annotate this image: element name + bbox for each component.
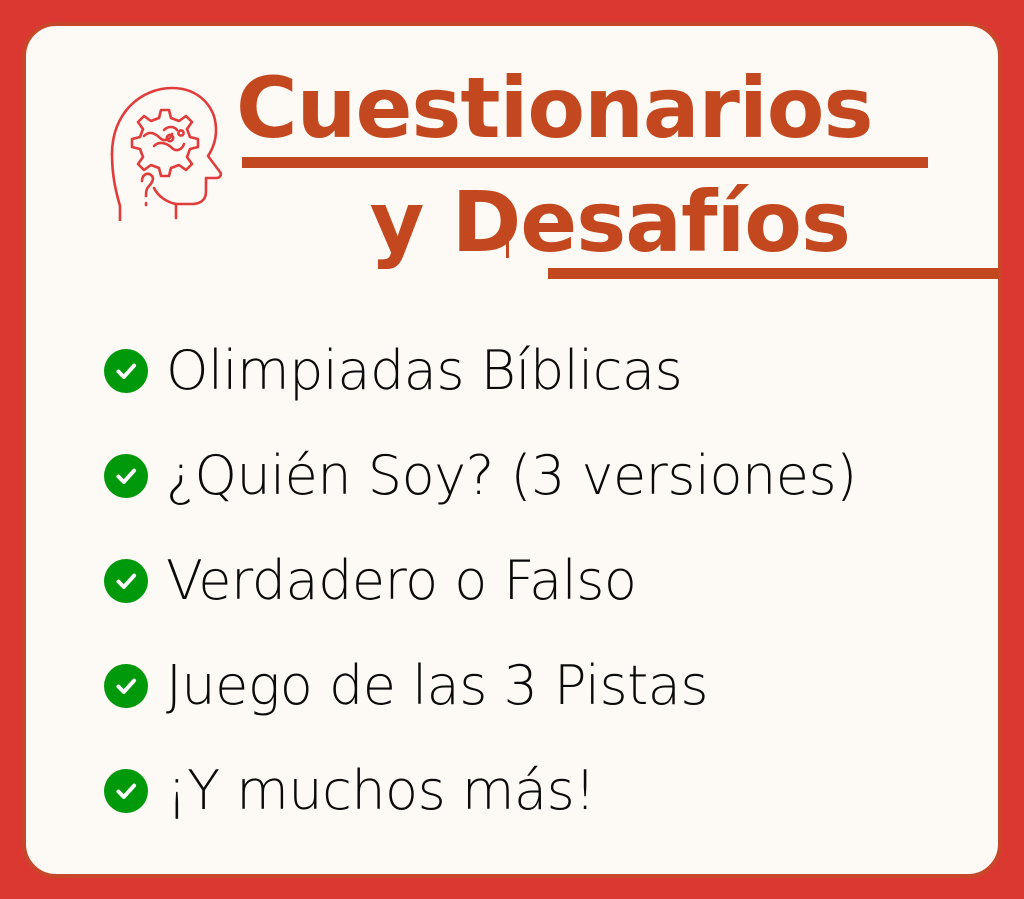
brain-head-icon <box>98 76 230 221</box>
slide-canvas: Cuestionarios y Desafíos Olimpiadas Bíbl… <box>0 0 1024 899</box>
list-item: Juego de las 3 Pistas <box>26 633 1002 738</box>
check-circle-icon <box>104 664 148 708</box>
decorative-tick <box>506 242 509 258</box>
check-circle-icon <box>104 559 148 603</box>
list-item-label: Verdadero o Falso <box>166 554 636 608</box>
page-title-line-2: y Desafíos <box>370 182 850 263</box>
content-card: Cuestionarios y Desafíos Olimpiadas Bíbl… <box>22 22 1002 878</box>
title-line-2-wrapper: y Desafíos <box>222 182 962 263</box>
list-item-label: ¿Quién Soy? (3 versiones) <box>166 449 857 503</box>
check-circle-icon <box>104 769 148 813</box>
page-title-line-1: Cuestionarios <box>222 68 962 149</box>
list-item-label: Juego de las 3 Pistas <box>166 659 708 713</box>
list-item: ¿Quién Soy? (3 versiones) <box>26 423 1002 528</box>
title-block: Cuestionarios y Desafíos <box>222 68 962 279</box>
list-item: Verdadero o Falso <box>26 528 1002 633</box>
list-item: Olimpiadas Bíblicas <box>26 318 1002 423</box>
feature-list: Olimpiadas Bíblicas ¿Quién Soy? (3 versi… <box>26 318 1002 843</box>
check-circle-icon <box>104 454 148 498</box>
header-section: Cuestionarios y Desafíos <box>26 26 1002 316</box>
list-item: ¡Y muchos más! <box>26 738 1002 843</box>
title-underline-1 <box>242 157 928 168</box>
check-circle-icon <box>104 349 148 393</box>
list-item-label: Olimpiadas Bíblicas <box>166 344 682 398</box>
list-item-label: ¡Y muchos más! <box>166 764 595 818</box>
